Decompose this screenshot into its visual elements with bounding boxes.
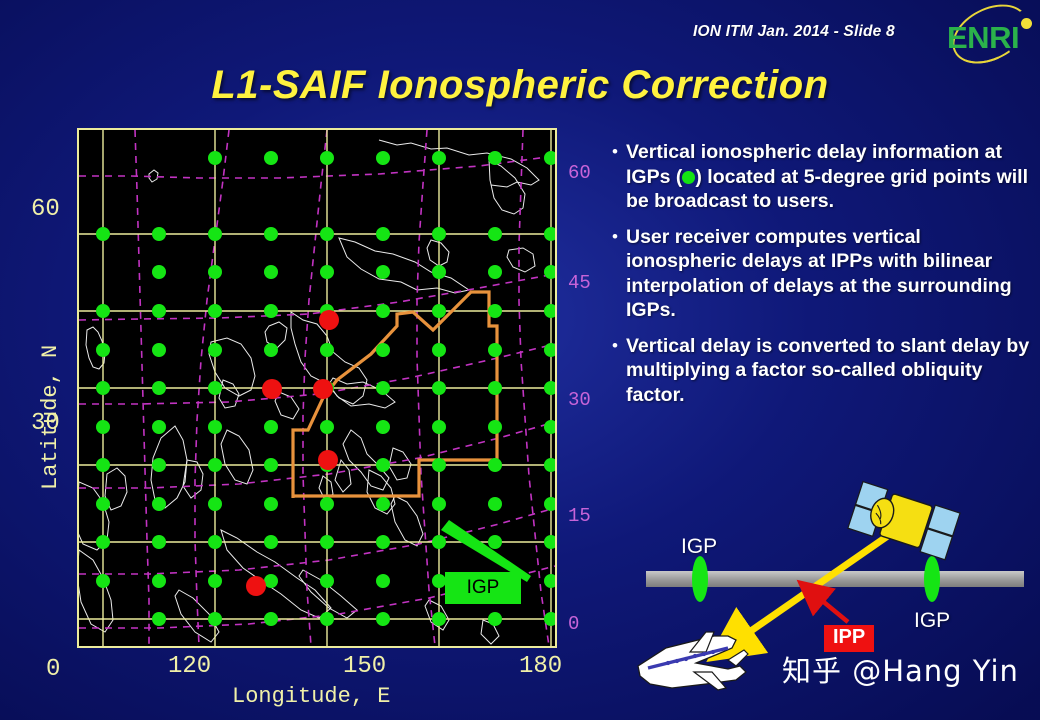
map-svg <box>79 130 555 646</box>
igp-right-label: IGP <box>914 609 950 633</box>
mag-tick-15: 15 <box>568 505 591 527</box>
igp-marker-left <box>692 556 708 602</box>
bullet-text-3: Vertical delay is converted to slant del… <box>626 334 1032 408</box>
page-title: L1-SAIF Ionospheric Correction <box>0 63 1040 108</box>
igp-callout-box: IGP <box>445 572 521 604</box>
igp-left-label: IGP <box>681 535 717 559</box>
mag-tick-45: 45 <box>568 272 591 294</box>
bullet-marker: • <box>612 225 626 323</box>
mag-tick-60: 60 <box>568 162 591 184</box>
logo-text: ENRI <box>947 22 1019 53</box>
igp-marker-right <box>924 556 940 602</box>
mag-tick-0: 0 <box>568 613 579 635</box>
y-axis-title: Latitude, N <box>38 345 63 490</box>
coastline-layer <box>79 140 539 644</box>
slide-root: ION ITM Jan. 2014 - Slide 8 ENRI L1-SAIF… <box>0 0 1040 720</box>
slide-header-subtitle: ION ITM Jan. 2014 - Slide 8 <box>693 23 895 41</box>
watermark-text: 知乎 @Hang Yin <box>782 648 1019 690</box>
airplane-icon <box>638 632 748 690</box>
list-item: • Vertical delay is converted to slant d… <box>612 334 1032 408</box>
igp-green-dot-icon <box>682 171 695 184</box>
bullet-list: • Vertical ionospheric delay information… <box>612 140 1032 418</box>
y-tick-60: 60 <box>31 196 60 223</box>
bullet-text-1: Vertical ionospheric delay information a… <box>626 140 1032 214</box>
x-tick-150: 150 <box>343 653 386 680</box>
y-tick-0: 0 <box>46 656 60 683</box>
enri-logo: ENRI <box>944 6 1036 64</box>
list-item: • User receiver computes vertical ionosp… <box>612 225 1032 323</box>
bullet-marker: • <box>612 334 626 408</box>
mag-tick-30: 30 <box>568 389 591 411</box>
bullet-text-2: User receiver computes vertical ionosphe… <box>626 225 1032 323</box>
x-tick-180: 180 <box>519 653 562 680</box>
bullet-marker: • <box>612 140 626 214</box>
x-tick-120: 120 <box>168 653 211 680</box>
list-item: • Vertical ionospheric delay information… <box>612 140 1032 214</box>
ionospheric-grid-map: IGP <box>77 128 557 648</box>
map-canvas <box>79 130 555 646</box>
ipp-pointer-arrow <box>814 594 848 622</box>
x-axis-title: Longitude, E <box>232 684 390 709</box>
logo-satellite-dot-icon <box>1021 18 1032 29</box>
